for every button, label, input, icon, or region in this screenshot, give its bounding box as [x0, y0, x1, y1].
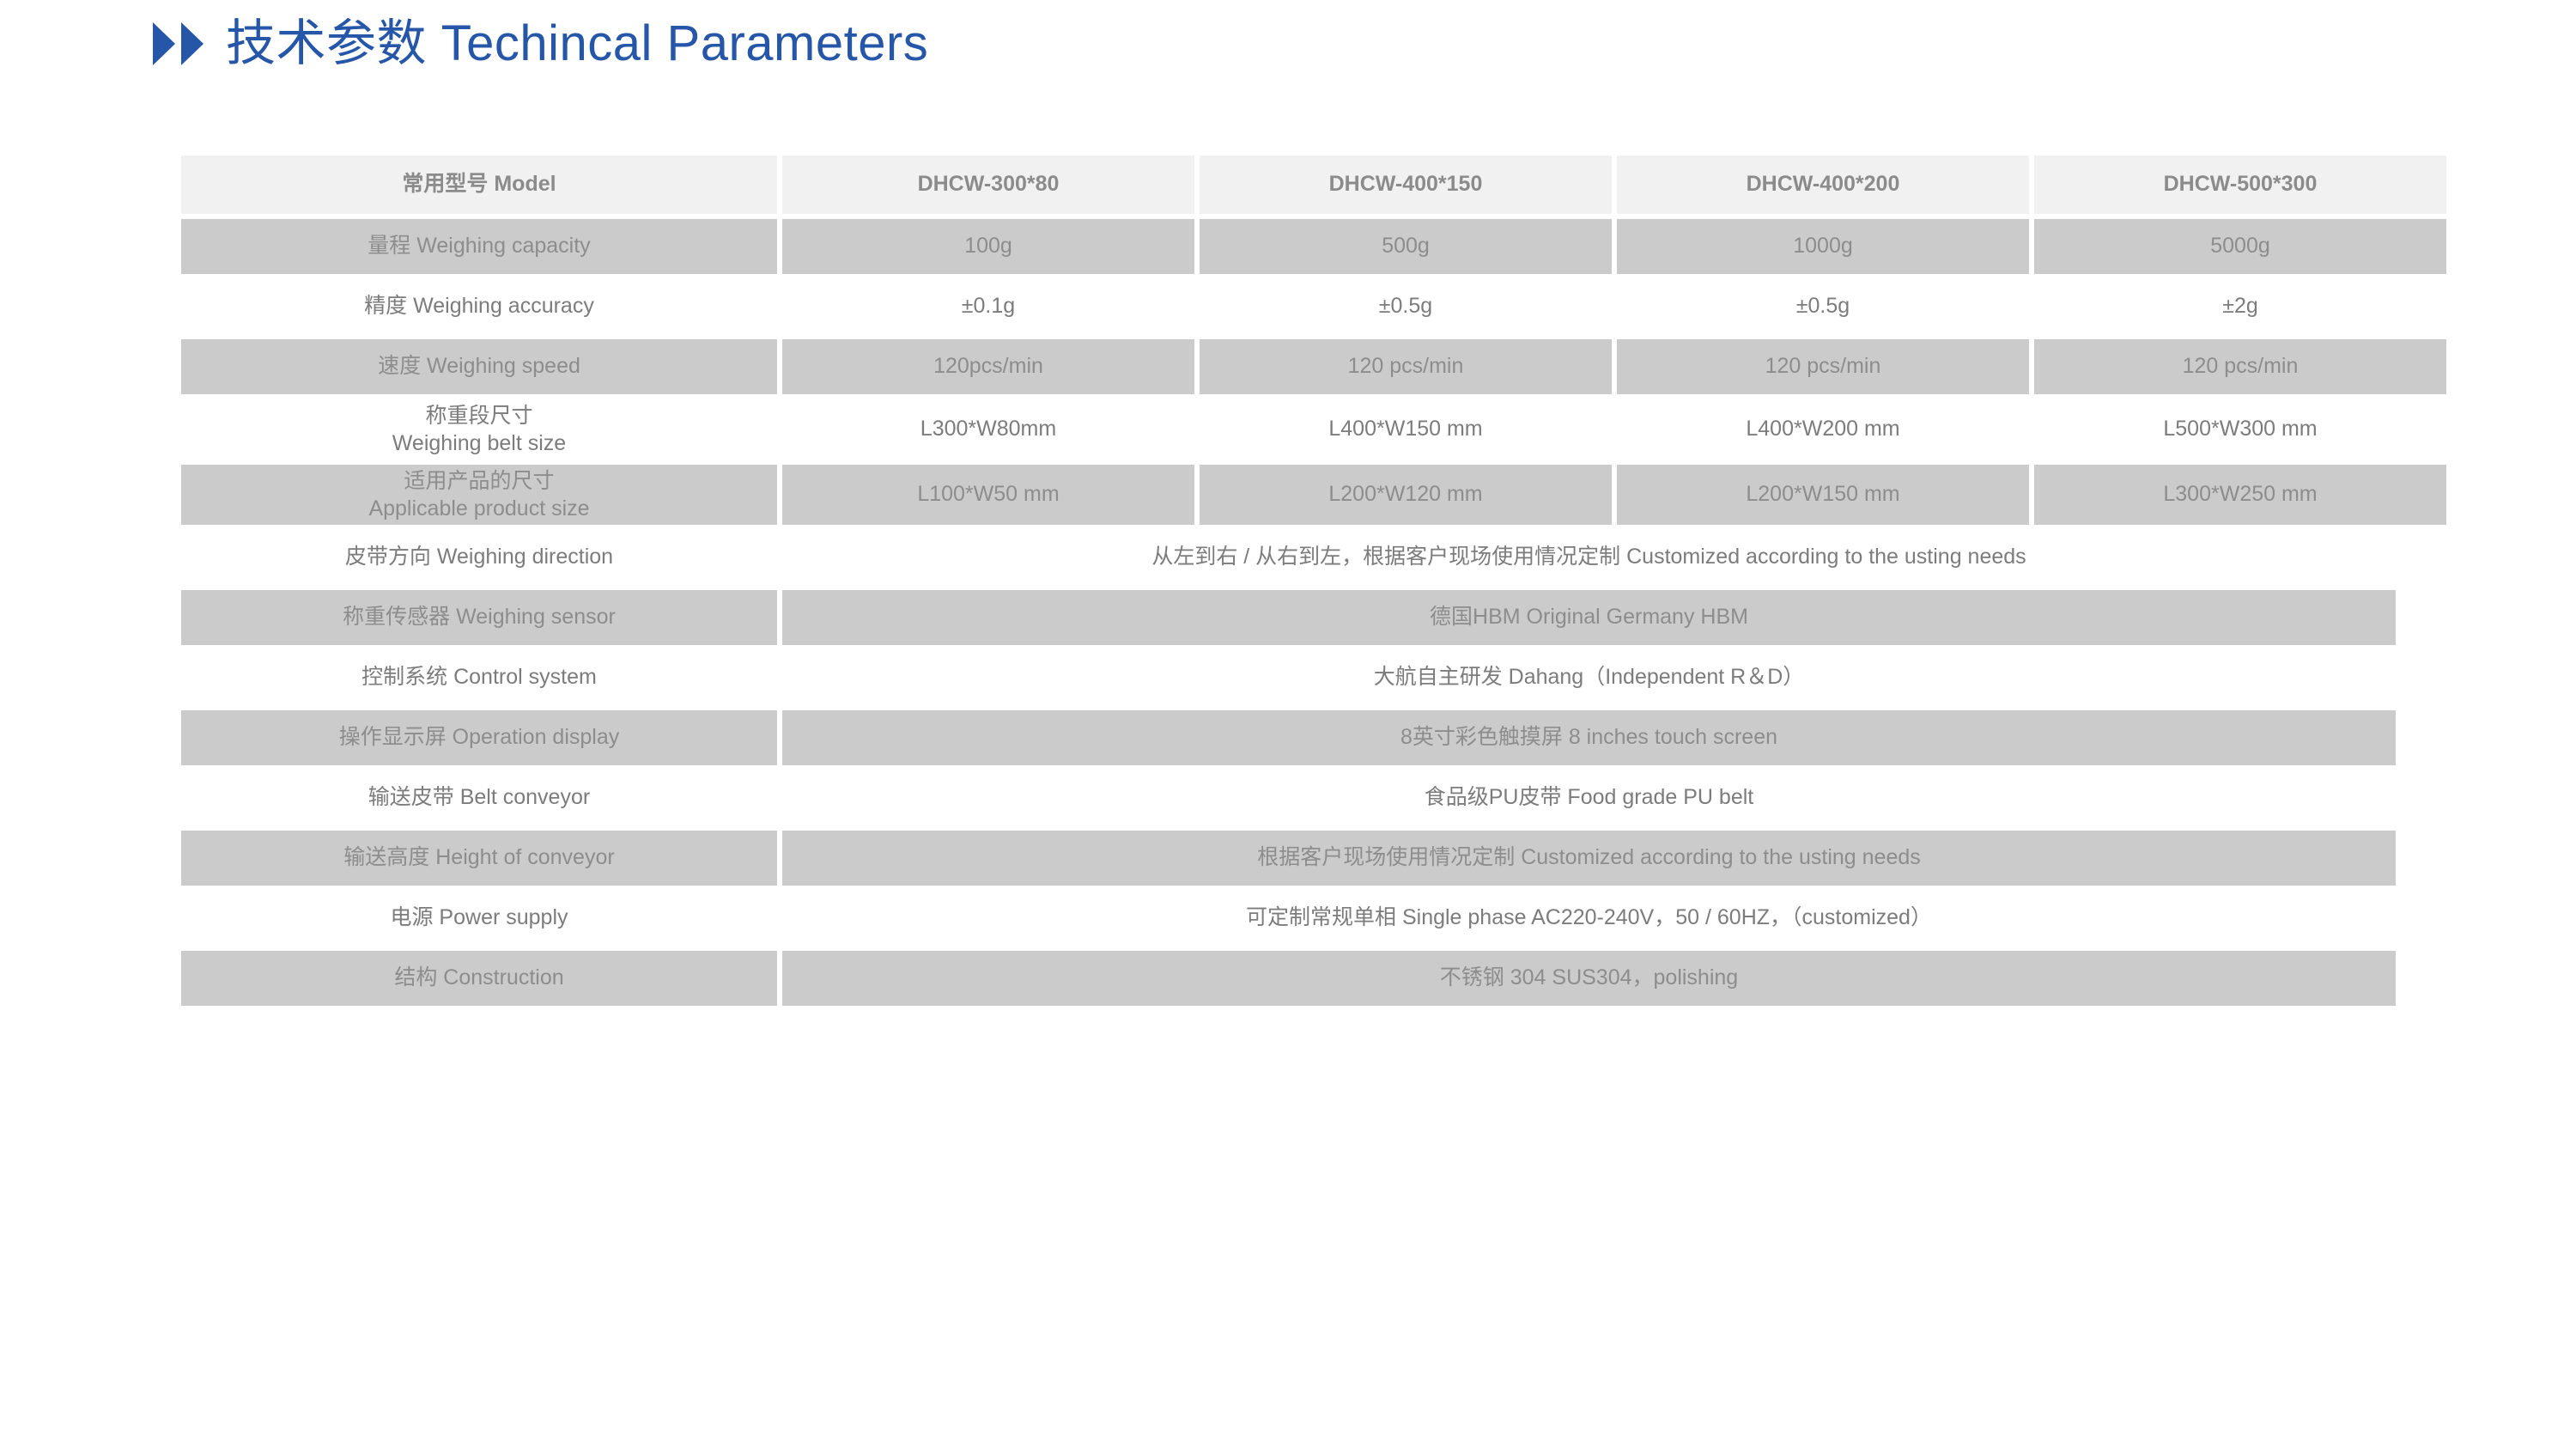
table-row: 输送皮带 Belt conveyor食品级PU皮带 Food grade PU …: [181, 770, 2396, 825]
row-label: 皮带方向 Weighing direction: [181, 530, 777, 585]
table-header-row: 常用型号 ModelDHCW-300*80DHCW-400*150DHCW-40…: [181, 155, 2396, 214]
row-value-2: L400*W150 mm: [1200, 399, 1612, 460]
table-row: 输送高度 Height of conveyor根据客户现场使用情况定制 Cust…: [181, 831, 2396, 886]
table-row: 量程 Weighing capacity100g500g1000g5000g: [181, 219, 2396, 274]
row-value-4: 120 pcs/min: [2034, 339, 2446, 394]
row-value-3: ±0.5g: [1617, 279, 2029, 334]
row-merged-value: 从左到右 / 从右到左，根据客户现场使用情况定制 Customized acco…: [782, 530, 2396, 585]
table-row: 称重传感器 Weighing sensor德国HBM Original Germ…: [181, 590, 2396, 645]
table-row: 称重段尺寸Weighing belt sizeL300*W80mmL400*W1…: [181, 399, 2396, 460]
table-row: 电源 Power supply可定制常规单相 Single phase AC22…: [181, 891, 2396, 946]
row-label: 适用产品的尺寸Applicable product size: [181, 465, 777, 525]
row-value-3: L400*W200 mm: [1617, 399, 2029, 460]
row-merged-value: 不锈钢 304 SUS304，polishing: [782, 951, 2396, 1006]
row-value-4: L300*W250 mm: [2034, 465, 2446, 525]
row-merged-value: 德国HBM Original Germany HBM: [782, 590, 2396, 645]
row-label: 操作显示屏 Operation display: [181, 710, 777, 765]
column-header-2: DHCW-400*150: [1200, 155, 1612, 214]
row-label: 输送皮带 Belt conveyor: [181, 770, 777, 825]
technical-parameters-table: 常用型号 ModelDHCW-300*80DHCW-400*150DHCW-40…: [181, 155, 2396, 1011]
row-label: 精度 Weighing accuracy: [181, 279, 777, 334]
row-label: 称重传感器 Weighing sensor: [181, 590, 777, 645]
column-header-1: DHCW-300*80: [782, 155, 1194, 214]
row-label: 称重段尺寸Weighing belt size: [181, 399, 777, 460]
row-label: 电源 Power supply: [181, 891, 777, 946]
row-value-1: ±0.1g: [782, 279, 1194, 334]
label-line-2: Weighing belt size: [392, 429, 566, 457]
row-value-1: L100*W50 mm: [782, 465, 1194, 525]
row-value-3: L200*W150 mm: [1617, 465, 2029, 525]
row-merged-value: 大航自主研发 Dahang（Independent R＆D）: [782, 650, 2396, 705]
page-title: 技术参数 Techincal Parameters: [226, 19, 928, 69]
column-header-3: DHCW-400*200: [1617, 155, 2029, 214]
table-row: 速度 Weighing speed120pcs/min120 pcs/min12…: [181, 339, 2396, 394]
double-right-triangle-icon: [153, 22, 204, 65]
label-line-1: 适用产品的尺寸: [404, 467, 554, 495]
table-row: 操作显示屏 Operation display8英寸彩色触摸屏 8 inches…: [181, 710, 2396, 765]
column-header-model: 常用型号 Model: [181, 155, 777, 214]
row-merged-value: 可定制常规单相 Single phase AC220-240V，50 / 60H…: [782, 891, 2396, 946]
row-value-2: ±0.5g: [1200, 279, 1612, 334]
row-value-4: 5000g: [2034, 219, 2446, 274]
row-value-4: ±2g: [2034, 279, 2446, 334]
label-line-2: Applicable product size: [368, 495, 589, 522]
row-value-1: 100g: [782, 219, 1194, 274]
table-row: 控制系统 Control system大航自主研发 Dahang（Indepen…: [181, 650, 2396, 705]
table-row: 结构 Construction不锈钢 304 SUS304，polishing: [181, 951, 2396, 1006]
row-label: 控制系统 Control system: [181, 650, 777, 705]
row-label: 量程 Weighing capacity: [181, 219, 777, 274]
table-row: 皮带方向 Weighing direction从左到右 / 从右到左，根据客户现…: [181, 530, 2396, 585]
triangle-right-icon-2: [181, 22, 204, 65]
row-value-2: 500g: [1200, 219, 1612, 274]
table-row: 精度 Weighing accuracy±0.1g±0.5g±0.5g±2g: [181, 279, 2396, 334]
row-value-4: L500*W300 mm: [2034, 399, 2446, 460]
row-label: 结构 Construction: [181, 951, 777, 1006]
row-label: 输送高度 Height of conveyor: [181, 831, 777, 886]
row-value-2: L200*W120 mm: [1200, 465, 1612, 525]
row-merged-value: 食品级PU皮带 Food grade PU belt: [782, 770, 2396, 825]
label-line-1: 称重段尺寸: [425, 402, 532, 429]
row-label: 速度 Weighing speed: [181, 339, 777, 394]
row-value-3: 1000g: [1617, 219, 2029, 274]
row-value-3: 120 pcs/min: [1617, 339, 2029, 394]
page-title-row: 技术参数 Techincal Parameters: [153, 19, 928, 69]
table-row: 适用产品的尺寸Applicable product sizeL100*W50 m…: [181, 465, 2396, 525]
row-value-2: 120 pcs/min: [1200, 339, 1612, 394]
row-merged-value: 8英寸彩色触摸屏 8 inches touch screen: [782, 710, 2396, 765]
row-value-1: L300*W80mm: [782, 399, 1194, 460]
column-header-4: DHCW-500*300: [2034, 155, 2446, 214]
technical-parameters-page: 技术参数 Techincal Parameters 常用型号 ModelDHCW…: [0, 0, 2576, 1443]
row-value-1: 120pcs/min: [782, 339, 1194, 394]
triangle-right-icon-1: [153, 22, 175, 65]
row-merged-value: 根据客户现场使用情况定制 Customized according to the…: [782, 831, 2396, 886]
